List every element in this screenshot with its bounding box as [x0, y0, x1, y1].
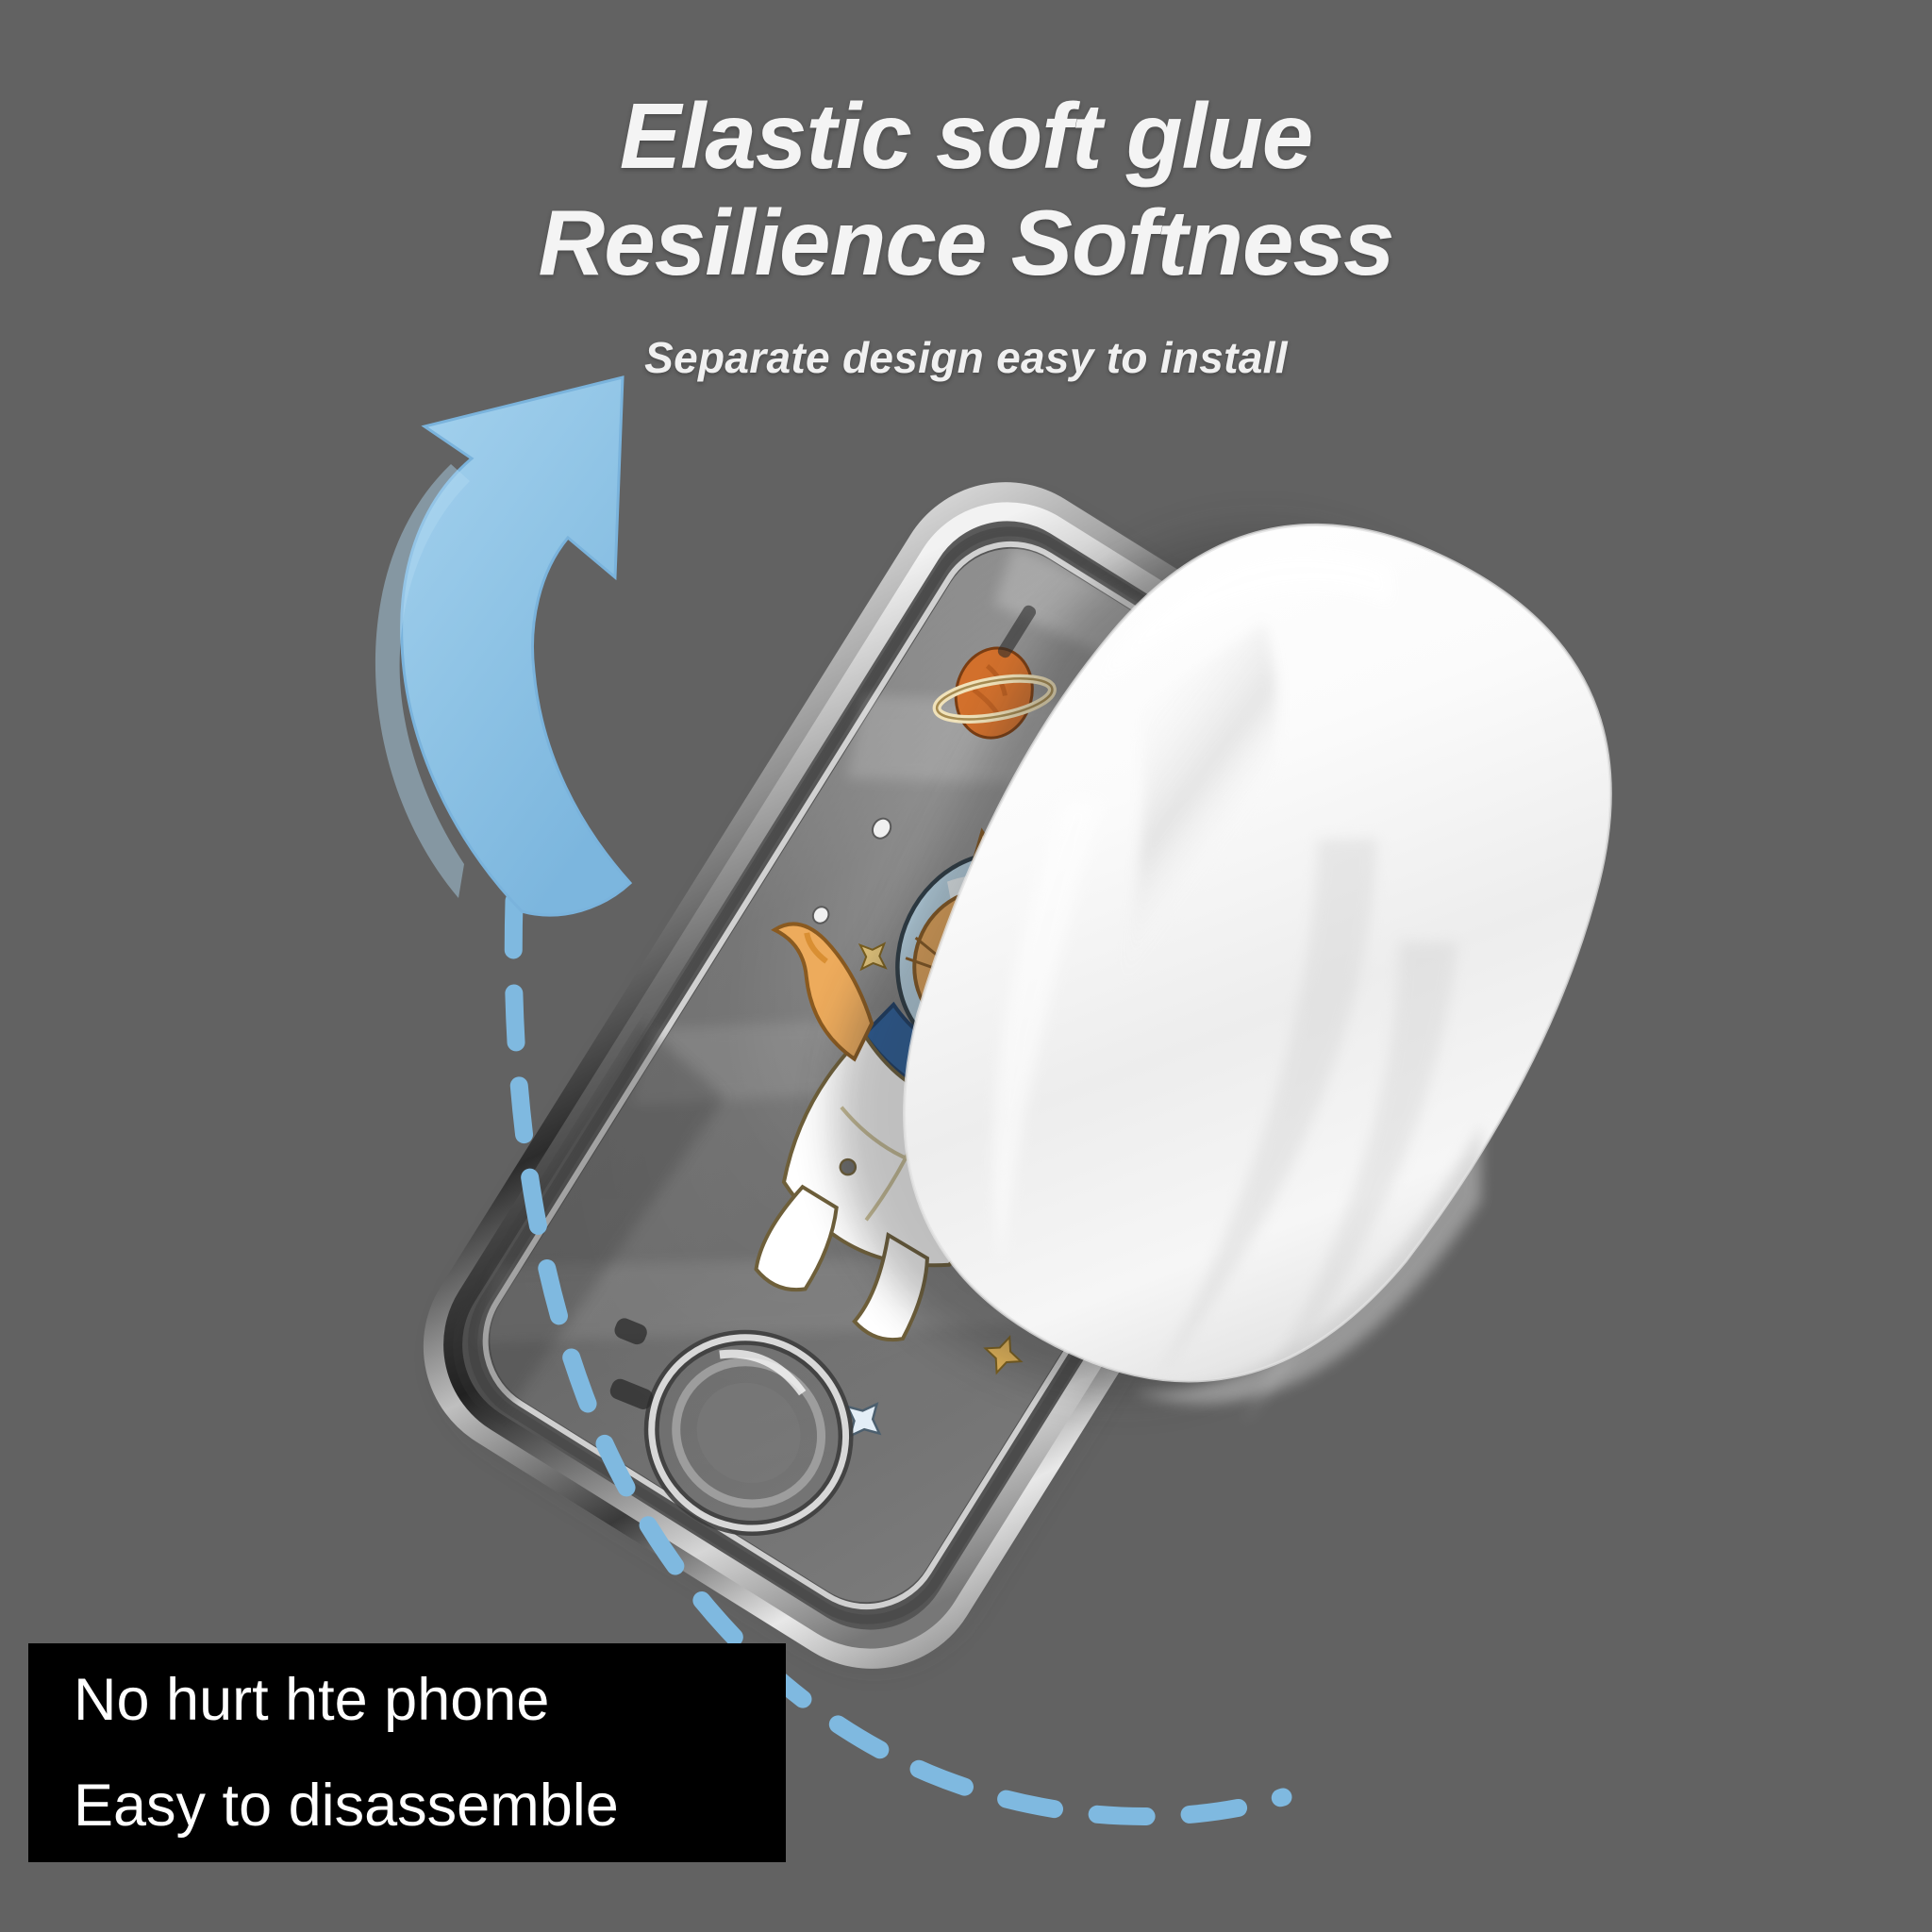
- benefits-caption-box: No hurt hte phone Easy to disassemble: [28, 1643, 786, 1862]
- product-illustration: [0, 0, 1932, 1932]
- caption-line-1: No hurt hte phone: [74, 1647, 786, 1753]
- curved-up-arrow-icon: [375, 377, 630, 917]
- product-feature-graphic: Elastic soft glue Resilience Softness Se…: [0, 0, 1932, 1932]
- subtitle: Separate design easy to install: [0, 332, 1932, 383]
- caption-line-2: Easy to disassemble: [74, 1753, 786, 1858]
